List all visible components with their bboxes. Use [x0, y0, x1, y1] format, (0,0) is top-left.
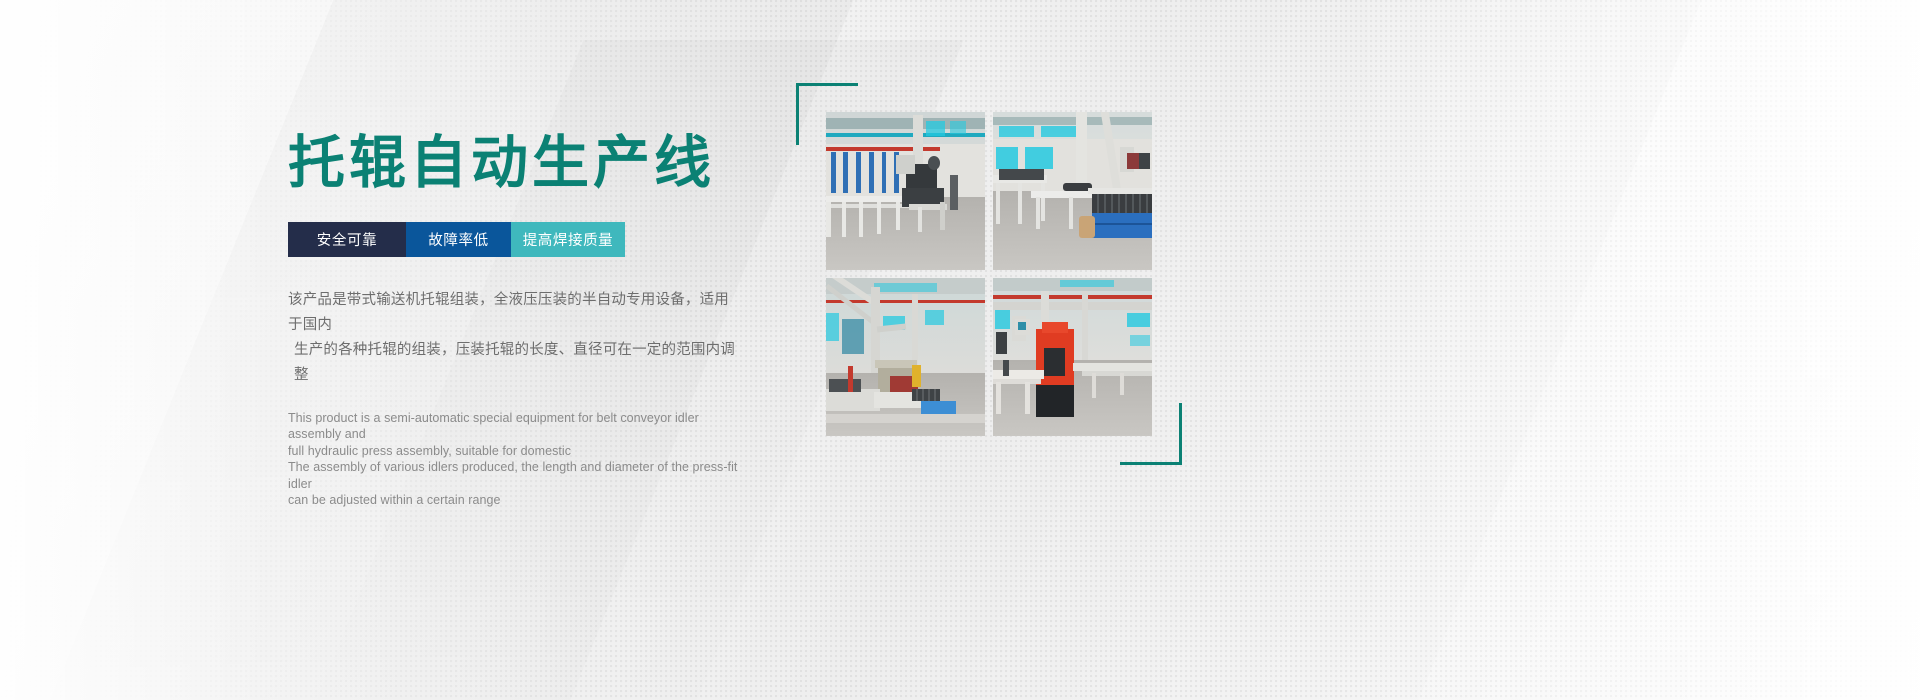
photo-gallery	[826, 112, 1152, 436]
description-english-line-3: The assembly of various idlers produced,…	[288, 459, 740, 492]
hero-text-column: 托辊自动生产线 安全可靠 故障率低 提高焊接质量 该产品是带式输送机托辊组装，全…	[288, 132, 758, 509]
description-english-line-1: This product is a semi-automatic special…	[288, 410, 740, 443]
gallery-photo-2[interactable]	[993, 112, 1152, 270]
description-english: This product is a semi-automatic special…	[288, 410, 740, 509]
feature-tag-row: 安全可靠 故障率低 提高焊接质量	[288, 222, 625, 257]
description-chinese: 该产品是带式输送机托辊组装，全液压压装的半自动专用设备，适用于国内 生产的各种托…	[288, 288, 740, 388]
page-title: 托辊自动生产线	[288, 132, 758, 196]
description-english-line-2: full hydraulic press assembly, suitable …	[288, 443, 740, 460]
gallery-photo-4[interactable]	[993, 278, 1152, 436]
feature-tag-weld-quality[interactable]: 提高焊接质量	[511, 222, 625, 257]
background-diagonal-shape-right	[1362, 0, 1920, 700]
banner-root: 托辊自动生产线 安全可靠 故障率低 提高焊接质量 该产品是带式输送机托辊组装，全…	[0, 0, 1920, 700]
gallery-photo-1[interactable]	[826, 112, 985, 270]
description-english-line-4: can be adjusted within a certain range	[288, 492, 740, 509]
description-chinese-line-1: 该产品是带式输送机托辊组装，全液压压装的半自动专用设备，适用于国内	[288, 292, 729, 333]
photo-grid	[826, 112, 1152, 436]
gallery-photo-3[interactable]	[826, 278, 985, 436]
feature-tag-safety[interactable]: 安全可靠	[288, 222, 406, 257]
feature-tag-failure-rate[interactable]: 故障率低	[406, 222, 511, 257]
description-chinese-line-2: 生产的各种托辊的组装，压装托辊的长度、直径可在一定的范围内调整	[288, 338, 740, 388]
